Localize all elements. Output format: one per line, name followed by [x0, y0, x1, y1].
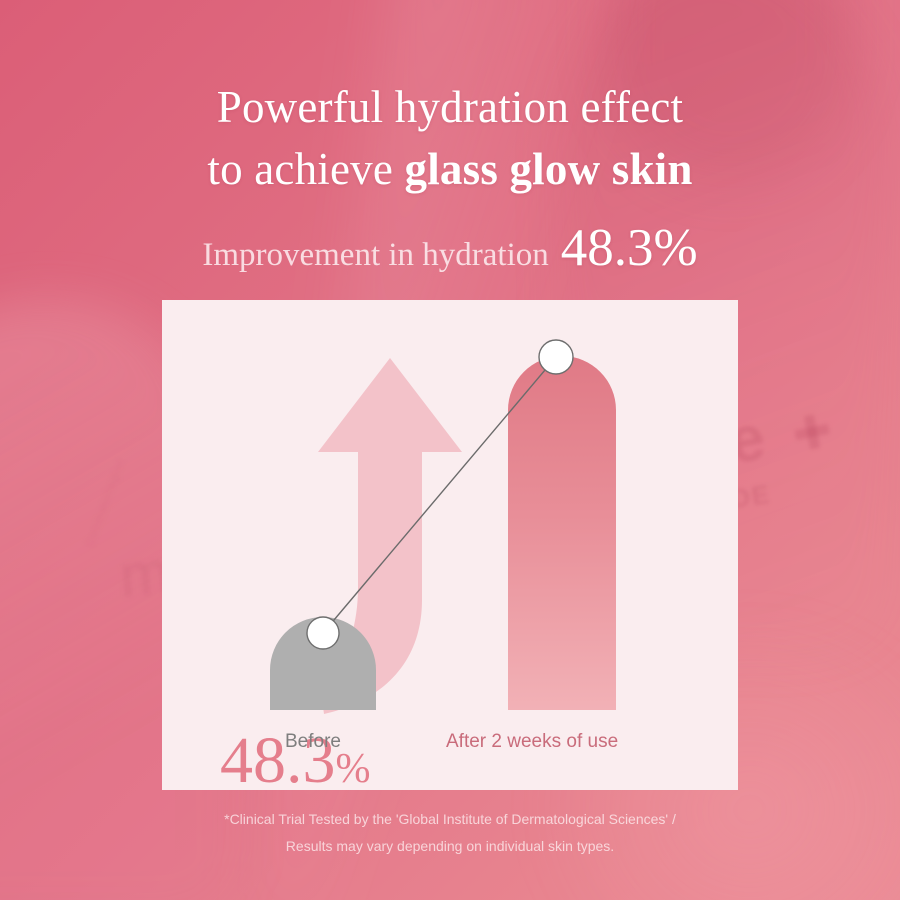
footnote-line-2: Results may vary depending on individual… [0, 833, 900, 860]
promo-poster: be IDE m Dermatologist Powerful hydratio… [0, 0, 900, 900]
axis-label-before: Before [285, 731, 341, 753]
headline-line-2: to achieve glass glow skin [0, 138, 900, 200]
marker-before [307, 617, 339, 649]
headline-block: Powerful hydration effect to achieve gla… [0, 76, 900, 200]
footnote-line-1: *Clinical Trial Tested by the 'Global In… [0, 806, 900, 833]
chart-card: 48.3% [162, 300, 738, 790]
headline-line-2-plain: to achieve [207, 144, 404, 194]
improvement-label: Improvement in hydration [202, 237, 548, 273]
marker-after [539, 340, 573, 374]
improvement-subline: Improvement in hydration48.3% [0, 218, 900, 278]
hydration-bar-chart [162, 300, 738, 790]
bar-after [508, 356, 616, 710]
footnote-block: *Clinical Trial Tested by the 'Global In… [0, 806, 900, 860]
improvement-value: 48.3% [561, 219, 698, 277]
axis-label-after: After 2 weeks of use [446, 731, 618, 753]
background-plus-icon [792, 412, 832, 452]
headline-line-2-emphasis: glass glow skin [405, 144, 693, 194]
headline-line-1: Powerful hydration effect [0, 76, 900, 138]
